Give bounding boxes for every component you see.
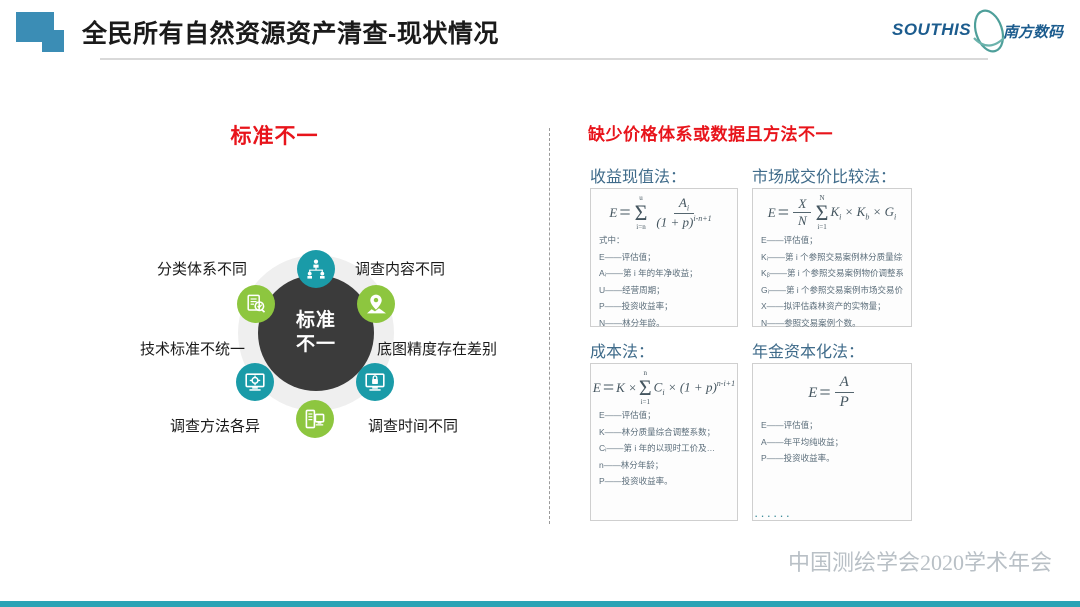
formula-box-income-present-value: E= uΣi=n Ai (1 + p)i-n+1 式中： E——评估值； Aᵢ—… xyxy=(590,188,738,327)
formula-title-annuity-capitalization: 年金资本化法： xyxy=(752,338,864,362)
node-icon-monitor-gear[interactable] xyxy=(236,363,274,401)
formula-note: Kᵦ——第 i 个参照交易案例物价调整系数 xyxy=(761,265,903,282)
monitor-lock-icon xyxy=(364,371,386,393)
footer-bar xyxy=(0,601,1080,607)
node-icon-document-search[interactable] xyxy=(237,285,275,323)
formula-note: E——评估值； xyxy=(599,249,729,266)
formula-box-market-comparison: E= XN NΣi=1 Ki × Kb × Gi E——评估值； Kᵢ——第 i… xyxy=(752,188,912,327)
formula-note: Cᵢ——第 i 年的以现时工价及… xyxy=(599,440,729,457)
formula-cost-method: E=K × nΣi=1 Ci × (1 + p)n-i+1 xyxy=(599,371,729,405)
formula-intro-income: 式中： xyxy=(599,232,729,249)
devices-document-icon xyxy=(304,408,326,430)
node-icon-devices-document[interactable] xyxy=(296,400,334,438)
node-label-survey-method: 调查方法各异 xyxy=(170,415,260,436)
monitor-gear-icon xyxy=(244,371,266,393)
hub-label-line1: 标准 xyxy=(296,309,336,333)
formula-note: P——投资收益率。 xyxy=(599,473,729,490)
footer-conference-name: 中国测绘学会2020学术年会 xyxy=(788,545,1052,577)
hub-label-line2: 不一 xyxy=(296,333,336,357)
formula-note: A——年平均纯收益； xyxy=(761,434,903,451)
formula-title-income-present-value: 收益现值法： xyxy=(590,163,686,187)
formula-note: n——林分年龄； xyxy=(599,457,729,474)
formula-note: P——投资收益率； xyxy=(599,298,729,315)
formula-annuity-capitalization: E= AP xyxy=(761,371,903,415)
node-icon-monitor-lock[interactable] xyxy=(356,363,394,401)
formula-note: P——投资收益率。 xyxy=(761,450,903,467)
formula-box-annuity-capitalization: E= AP E——评估值； A——年平均纯收益； P——投资收益率。 xyxy=(752,363,912,521)
formula-title-market-comparison: 市场成交价比较法： xyxy=(752,163,896,187)
brand-name-cn: 南方数码 xyxy=(1003,21,1063,42)
formula-note: N——参照交易案例个数。 xyxy=(761,315,903,332)
node-label-classification: 分类体系不同 xyxy=(157,258,247,279)
formula-market-comparison: E= XN NΣi=1 Ki × Kb × Gi xyxy=(761,196,903,230)
left-panel: 标准不一 标准 不一 xyxy=(0,95,549,545)
header-divider xyxy=(100,58,988,60)
ellipsis-indicator: ······ xyxy=(728,508,818,523)
page-title: 全民所有自然资源资产清查-现状情况 xyxy=(82,14,499,50)
formula-note: Aᵢ——第 i 年的年净收益； xyxy=(599,265,729,282)
formula-box-cost-method: E=K × nΣi=1 Ci × (1 + p)n-i+1 E——评估值； K—… xyxy=(590,363,738,521)
node-label-basemap-precision: 底图精度存在差别 xyxy=(377,338,497,359)
formula-note: Kᵢ——第 i 个参照交易案例林分质量综合 xyxy=(761,249,903,266)
formula-note: U——经营周期； xyxy=(599,282,729,299)
formula-note: N——林分年龄。 xyxy=(599,315,729,332)
org-chart-people-icon xyxy=(305,258,327,280)
map-pin-icon xyxy=(365,293,387,315)
formula-note: K——林分质量综合调整系数； xyxy=(599,424,729,441)
formula-note: E——评估值； xyxy=(761,417,903,434)
left-panel-heading: 标准不一 xyxy=(0,120,549,150)
panel-divider xyxy=(549,128,550,524)
node-label-survey-content: 调查内容不同 xyxy=(355,258,445,279)
brand-logo: SOUTHIS 南方数码 xyxy=(888,8,1070,54)
formula-income-present-value: E= uΣi=n Ai (1 + p)i-n+1 xyxy=(599,196,729,230)
formula-title-cost-method: 成本法： xyxy=(590,338,654,362)
document-search-icon xyxy=(245,293,267,315)
slide-header: 全民所有自然资源资产清查-现状情况 SOUTHIS 南方数码 xyxy=(0,0,1080,62)
brand-name-en: SOUTHIS xyxy=(892,20,971,40)
node-icon-map-pin[interactable] xyxy=(357,285,395,323)
formula-note: X——拟评估森林资产的实物量； xyxy=(761,298,903,315)
node-label-tech-standard: 技术标准不统一 xyxy=(140,338,245,359)
formula-note: E——评估值； xyxy=(599,407,729,424)
node-label-survey-time: 调查时间不同 xyxy=(368,415,458,436)
node-icon-org-chart-people[interactable] xyxy=(297,250,335,288)
formula-note: E——评估值； xyxy=(761,232,903,249)
square-blocks-icon xyxy=(16,12,68,54)
formula-note: Gᵢ——第 i 个参照交易案例市场交易价格 xyxy=(761,282,903,299)
right-panel: 缺少价格体系或数据且方法不一 收益现值法： E= uΣi=n Ai (1 + p… xyxy=(560,95,1080,545)
right-panel-heading: 缺少价格体系或数据且方法不一 xyxy=(588,120,833,145)
